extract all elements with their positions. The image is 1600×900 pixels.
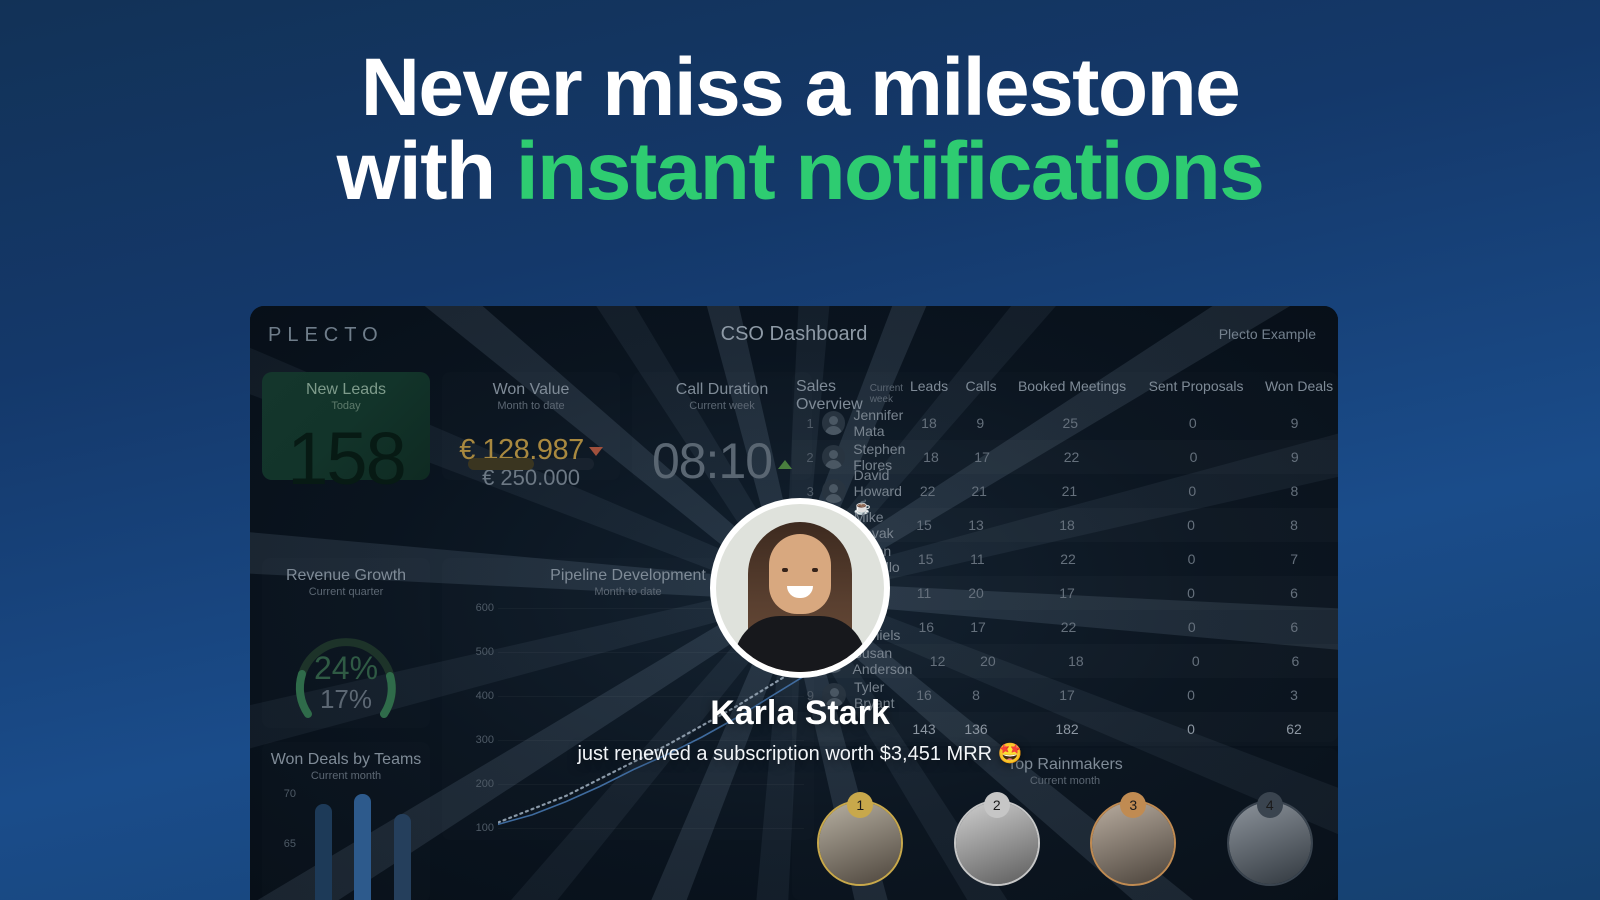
- notification-message: just renewed a subscription worth $3,451…: [0, 741, 1600, 766]
- table-row: 1Jennifer Mata1892509: [792, 406, 1338, 440]
- won-value-progress-bar: [468, 458, 594, 470]
- row-rank: 1: [792, 416, 814, 431]
- headline-line-1: Never miss a milestone: [361, 42, 1240, 133]
- widget-new-leads[interactable]: New Leads Today 158: [262, 372, 430, 480]
- row-cell-meetings: 22: [1008, 449, 1136, 465]
- row-cell-proposals: 0: [1135, 449, 1251, 465]
- row-cell-proposals: 0: [1134, 483, 1251, 499]
- row-cell-proposals: 0: [1134, 415, 1251, 431]
- avatar-body: [734, 616, 866, 672]
- table-column-headers: LeadsCallsBooked MeetingsSent ProposalsW…: [903, 378, 1338, 394]
- rainmaker-item[interactable]: 1: [819, 802, 901, 884]
- avatar-smile: [787, 586, 813, 598]
- teams-y-axis: 7065: [268, 788, 296, 888]
- grid-line: [498, 828, 804, 829]
- widget-title: New Leads: [262, 372, 430, 399]
- rainmaker-rank-badge: 1: [847, 792, 873, 818]
- page-title: CSO Dashboard: [721, 323, 868, 346]
- row-cell-won: 9: [1251, 449, 1338, 465]
- call-duration-number: 08:10: [652, 433, 772, 489]
- row-cell-meetings: 25: [1006, 415, 1134, 431]
- axis-tick-label: 100: [454, 822, 494, 866]
- axis-tick-label: 200: [454, 778, 494, 822]
- table-column-header: Sent Proposals: [1137, 378, 1255, 394]
- widget-title: Won Value: [442, 372, 620, 399]
- grid-line: [498, 784, 804, 785]
- call-duration-value: 08:10: [632, 432, 812, 490]
- headline-line-2-accent: instant notifications: [516, 126, 1264, 217]
- widget-won-value[interactable]: Won Value Month to date € 128.987 € 250.…: [442, 372, 620, 480]
- table-column-header: Won Deals: [1255, 378, 1338, 394]
- table-column-header: Booked Meetings: [1007, 378, 1137, 394]
- trend-up-icon: [778, 460, 792, 469]
- bar: [394, 814, 411, 900]
- table-subtitle: Current week: [870, 383, 903, 405]
- widget-call-duration[interactable]: Call Duration Current week 08:10: [632, 372, 812, 480]
- organization-label: Plecto Example: [1219, 326, 1316, 342]
- plecto-logo: PLECTO: [268, 324, 384, 347]
- trend-down-icon: [589, 447, 603, 456]
- widget-title: Call Duration: [632, 372, 812, 399]
- row-cell-won: 8: [1251, 483, 1338, 499]
- notification-overlay: Karla Stark just renewed a subscription …: [0, 498, 1600, 766]
- rainmaker-rank-badge: 3: [1120, 792, 1146, 818]
- row-name: Jennifer Mata: [853, 407, 903, 439]
- axis-tick-label: 70: [268, 788, 296, 838]
- new-leads-value: 158: [262, 422, 430, 496]
- avatar-face: [769, 534, 831, 614]
- teams-bars: [304, 784, 422, 900]
- notification-name: Karla Stark: [0, 694, 1600, 733]
- rainmaker-item[interactable]: 4: [1229, 802, 1311, 884]
- row-cell-leads: 22: [902, 483, 954, 499]
- table-column-header: Leads: [903, 378, 955, 394]
- row-cell-leads: 18: [903, 415, 954, 431]
- row-cell-meetings: 21: [1005, 483, 1134, 499]
- table-column-header: Calls: [955, 378, 1007, 394]
- row-cell-won: 9: [1251, 415, 1338, 431]
- axis-tick-label: 65: [268, 838, 296, 888]
- rainmakers-list: 1234: [792, 802, 1338, 884]
- rainmaker-rank-badge: 4: [1257, 792, 1283, 818]
- row-cell-calls: 9: [955, 415, 1006, 431]
- row-avatar: [822, 445, 846, 469]
- plecto-logo-text: PLECTO: [268, 324, 384, 347]
- widget-subtitle: Current month: [792, 775, 1338, 787]
- bar: [315, 804, 332, 900]
- rainmaker-rank-badge: 2: [984, 792, 1010, 818]
- row-cell-leads: 18: [905, 449, 956, 465]
- headline-line-2-plain: with: [337, 126, 516, 217]
- row-rank: 2: [792, 450, 814, 465]
- row-cell-calls: 21: [953, 483, 1005, 499]
- headline: Never miss a milestone with instant noti…: [0, 48, 1600, 213]
- avatar-eye-right: [812, 568, 818, 572]
- widget-subtitle: Current week: [632, 400, 812, 412]
- dashboard-header: PLECTO CSO Dashboard Plecto Example: [250, 306, 1338, 362]
- row-rank: 3: [792, 484, 814, 499]
- row-cell-calls: 17: [957, 449, 1008, 465]
- bar: [354, 794, 371, 900]
- widget-subtitle: Today: [262, 400, 430, 412]
- hero-headline: Never miss a milestone with instant noti…: [0, 48, 1600, 213]
- widget-top-rainmakers[interactable]: Top Rainmakers Current month 1234: [792, 748, 1338, 900]
- rainmaker-item[interactable]: 3: [1092, 802, 1174, 884]
- widget-subtitle: Month to date: [442, 400, 620, 412]
- row-avatar: [822, 411, 846, 435]
- widget-subtitle: Current month: [262, 770, 430, 782]
- rainmaker-item[interactable]: 2: [956, 802, 1038, 884]
- notification-avatar: [710, 498, 890, 678]
- avatar-eye-left: [782, 568, 788, 572]
